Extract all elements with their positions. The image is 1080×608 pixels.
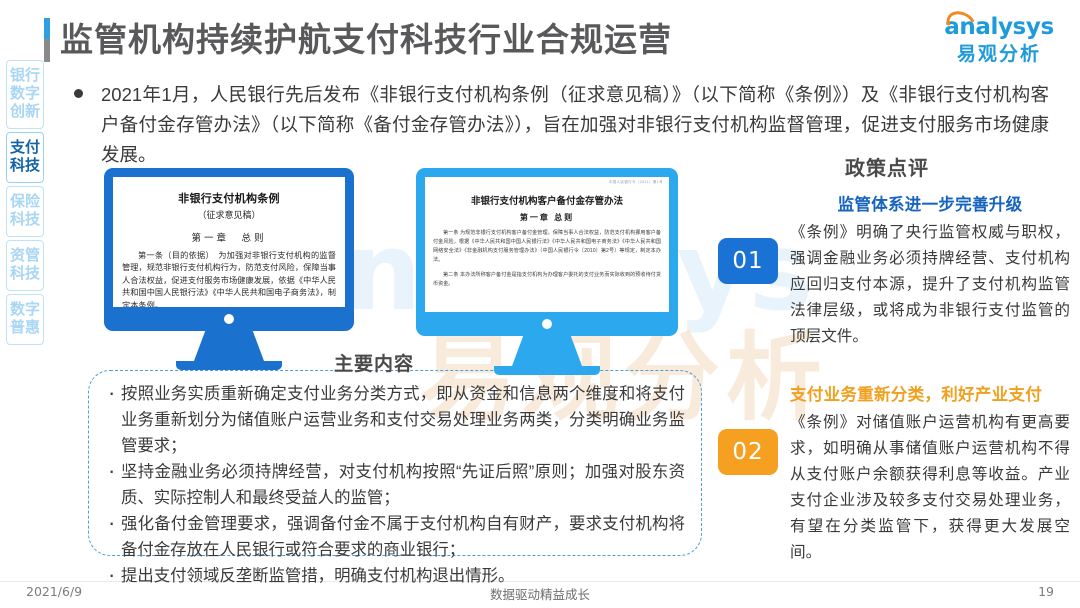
monitor-2-bezel: 中国人民银行令〔2021〕第1号 非银行支付机构客户备付金存管办法 第一章 总则…: [416, 168, 678, 336]
list-item: 强化备付金管理要求，强调备付金不属于支付机构自有财产，要求支付机构将备付金存放在…: [105, 511, 685, 563]
footer-page-number: 19: [1038, 584, 1054, 599]
commentary-2-heading: 支付业务重新分类，利好产业支付: [790, 382, 1070, 408]
page-title: 监管机构持续护航支付科技行业合规运营: [60, 18, 672, 62]
badge-01: 01: [718, 238, 778, 284]
sidebar-item-insurance[interactable]: 保险科技: [6, 186, 44, 237]
monitor-1-neck: [194, 331, 264, 361]
main-content-list: 按照业务实质重新确定支付业务分类方式，即从资金和信息两个维度和将支付业务重新划分…: [105, 381, 685, 589]
doc1-title: 非银行支付机构条例: [122, 190, 336, 206]
doc1-chapter: 第一章 总则: [122, 230, 336, 244]
monitor-1-bezel: 非银行支付机构条例 （征求意见稿） 第一章 总则 第一条（目的依据） 为加强对非…: [104, 168, 354, 331]
commentary-title: 政策点评: [845, 152, 929, 181]
monitor-1-led-icon: [224, 314, 234, 324]
doc1-subtitle: （征求意见稿）: [122, 208, 336, 221]
monitor-2-led-icon: [542, 319, 552, 329]
sidebar-item-bank[interactable]: 银行数字创新: [6, 60, 44, 129]
sidebar-item-asset[interactable]: 资管科技: [6, 240, 44, 291]
title-accent-bar: [44, 18, 50, 62]
sidebar-item-label: 支付科技: [7, 139, 43, 175]
analysys-logo: analysys 易观分析: [940, 10, 1058, 64]
footer: 2021/6/9 数据驱动精益成长 19: [0, 584, 1080, 604]
monitor-1-base: [176, 361, 282, 370]
badge-02: 02: [718, 429, 778, 475]
sidebar-item-inclusive[interactable]: 数字普惠: [6, 294, 44, 345]
monitor-2-screen: 中国人民银行令〔2021〕第1号 非银行支付机构客户备付金存管办法 第一章 总则…: [425, 177, 669, 312]
logo-cn-text: 易观分析: [940, 39, 1058, 66]
doc2-stamp: 中国人民银行令〔2021〕第1号: [609, 180, 663, 185]
monitor-2-neck: [512, 336, 582, 366]
doc2-paragraph-2: 第二条 本办法所称客户备付金是指支付机构为办理客户委托的支付业务而实际收到的预收…: [433, 271, 661, 289]
intro-bullet-icon: [74, 89, 83, 98]
footer-slogan: 数据驱动精益成长: [0, 584, 1080, 603]
list-item: 坚持金融业务必须持牌经营，对支付机构按照“先证后照”原则；加强对股东资质、实际控…: [105, 459, 685, 511]
main-content-box: 按照业务实质重新确定支付业务分类方式，即从资金和信息两个维度和将支付业务重新划分…: [88, 370, 702, 556]
main-content-label: 主要内容: [334, 349, 414, 376]
commentary-2-body: 《条例》对储值账户运营机构有更高要求，如明确从事储值账户运营机构不得从支付账户余…: [790, 410, 1070, 566]
sidebar-item-payment[interactable]: 支付科技: [6, 132, 44, 183]
doc2-title: 非银行支付机构客户备付金存管办法: [433, 193, 661, 207]
commentary-item-2: 支付业务重新分类，利好产业支付 《条例》对储值账户运营机构有更高要求，如明确从事…: [790, 382, 1070, 566]
monitor-document-2: 中国人民银行令〔2021〕第1号 非银行支付机构客户备付金存管办法 第一章 总则…: [416, 168, 678, 375]
list-item: 按照业务实质重新确定支付业务分类方式，即从资金和信息两个维度和将支付业务重新划分…: [105, 381, 685, 459]
commentary-1-body: 《条例》明确了央行监管权威与职权，强调金融业务必须持牌经营、支付机构应回归支付本…: [790, 220, 1070, 350]
sidebar-item-label: 资管科技: [7, 247, 43, 283]
doc1-paragraph: 第一条（目的依据） 为加强对非银行支付机构的监督管理，规范非银行支付机构行为，防…: [122, 250, 336, 307]
commentary-item-1: 监管体系进一步完善升级 《条例》明确了央行监管权威与职权，强调金融业务必须持牌经…: [790, 192, 1070, 350]
monitor-document-1: 非银行支付机构条例 （征求意见稿） 第一章 总则 第一条（目的依据） 为加强对非…: [104, 168, 354, 370]
sidebar-item-label: 银行数字创新: [7, 67, 43, 121]
sidebar-item-label: 数字普惠: [7, 301, 43, 337]
doc2-paragraph-1: 第一条 为规范非银行支付机构客户备付金管理，保障当事人合法权益，防范支付机构挪用…: [433, 229, 661, 265]
doc2-chapter: 第一章 总则: [433, 212, 661, 223]
sidebar-nav: 银行数字创新 支付科技 保险科技 资管科技 数字普惠: [6, 60, 46, 348]
monitor-1-screen: 非银行支付机构条例 （征求意见稿） 第一章 总则 第一条（目的依据） 为加强对非…: [113, 177, 345, 307]
commentary-1-heading: 监管体系进一步完善升级: [790, 192, 1070, 218]
slide-root: analysys 易观分析 监管机构持续护航支付科技行业合规运营 analysy…: [0, 0, 1080, 608]
sidebar-item-label: 保险科技: [7, 193, 43, 229]
